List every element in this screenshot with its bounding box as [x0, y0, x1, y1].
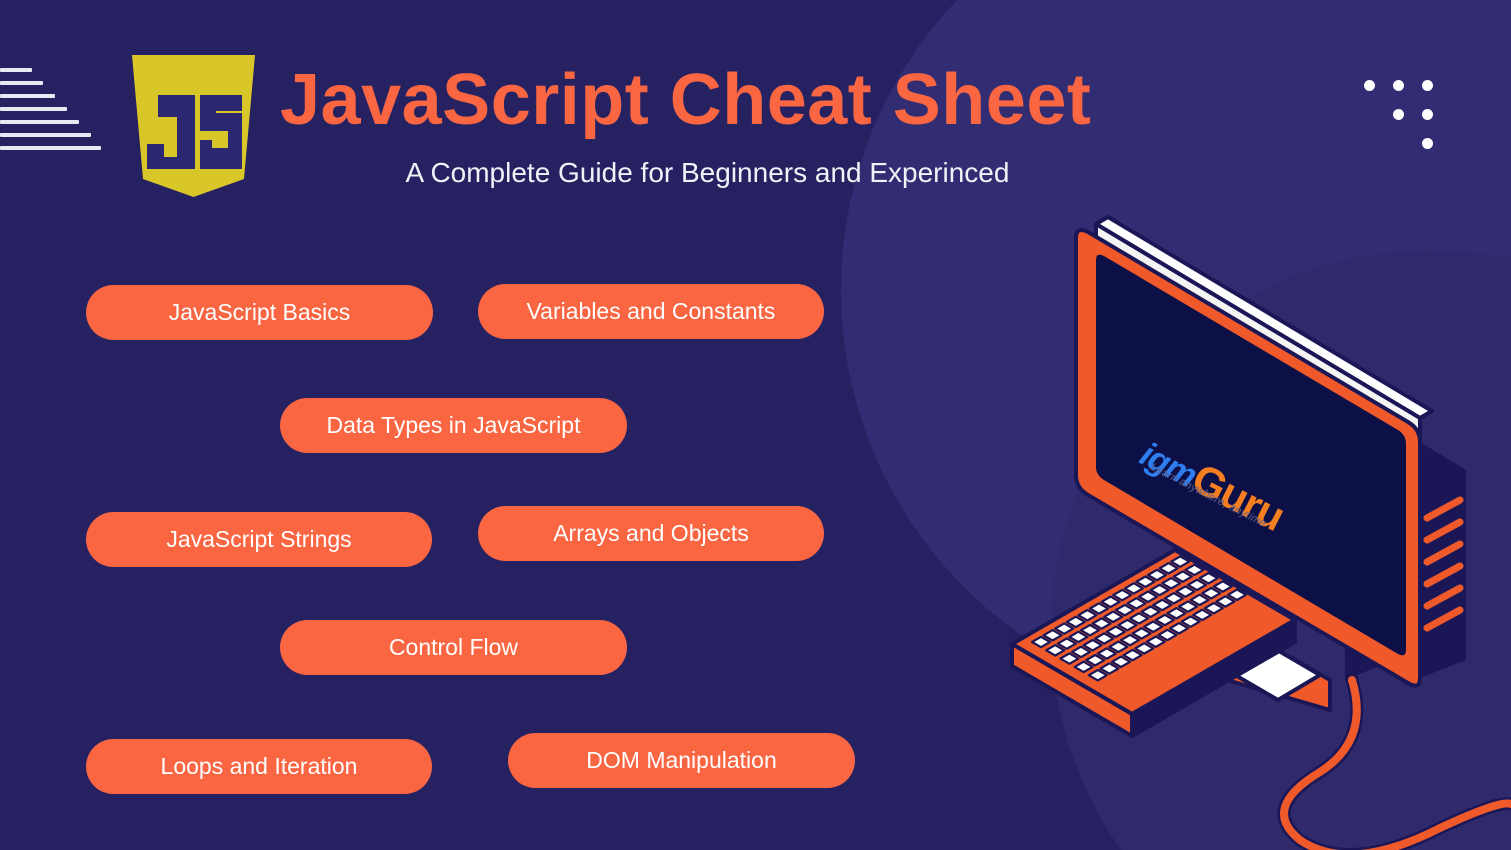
topic-pill-dom-manipulation[interactable]: DOM Manipulation — [508, 733, 855, 788]
topic-pill-data-types-in-javascript[interactable]: Data Types in JavaScript — [280, 398, 627, 453]
topic-pill-label: Loops and Iteration — [161, 753, 358, 780]
topic-pill-loops-and-iteration[interactable]: Loops and Iteration — [86, 739, 432, 794]
stacked-lines-icon — [0, 68, 110, 164]
topic-pill-javascript-basics[interactable]: JavaScript Basics — [86, 285, 433, 340]
topic-pill-label: JavaScript Strings — [166, 526, 351, 553]
isometric-desktop-computer-illustration — [900, 180, 1511, 850]
cheat-sheet-poster: JavaScript Cheat Sheet A Complete Guide … — [0, 0, 1511, 850]
page-title: JavaScript Cheat Sheet — [280, 58, 1091, 142]
topic-pill-label: Arrays and Objects — [553, 520, 749, 547]
topic-pill-label: Variables and Constants — [527, 298, 776, 325]
topic-pill-control-flow[interactable]: Control Flow — [280, 620, 627, 675]
topic-pill-label: DOM Manipulation — [586, 747, 776, 774]
triangle-dots-icon — [1364, 80, 1440, 156]
topic-pill-label: Data Types in JavaScript — [327, 412, 581, 439]
topic-pill-variables-and-constants[interactable]: Variables and Constants — [478, 284, 824, 339]
topic-pill-javascript-strings[interactable]: JavaScript Strings — [86, 512, 432, 567]
topic-pill-arrays-and-objects[interactable]: Arrays and Objects — [478, 506, 824, 561]
javascript-shield-icon — [128, 53, 259, 199]
topic-pill-label: Control Flow — [389, 634, 518, 661]
topic-pill-label: JavaScript Basics — [169, 299, 351, 326]
